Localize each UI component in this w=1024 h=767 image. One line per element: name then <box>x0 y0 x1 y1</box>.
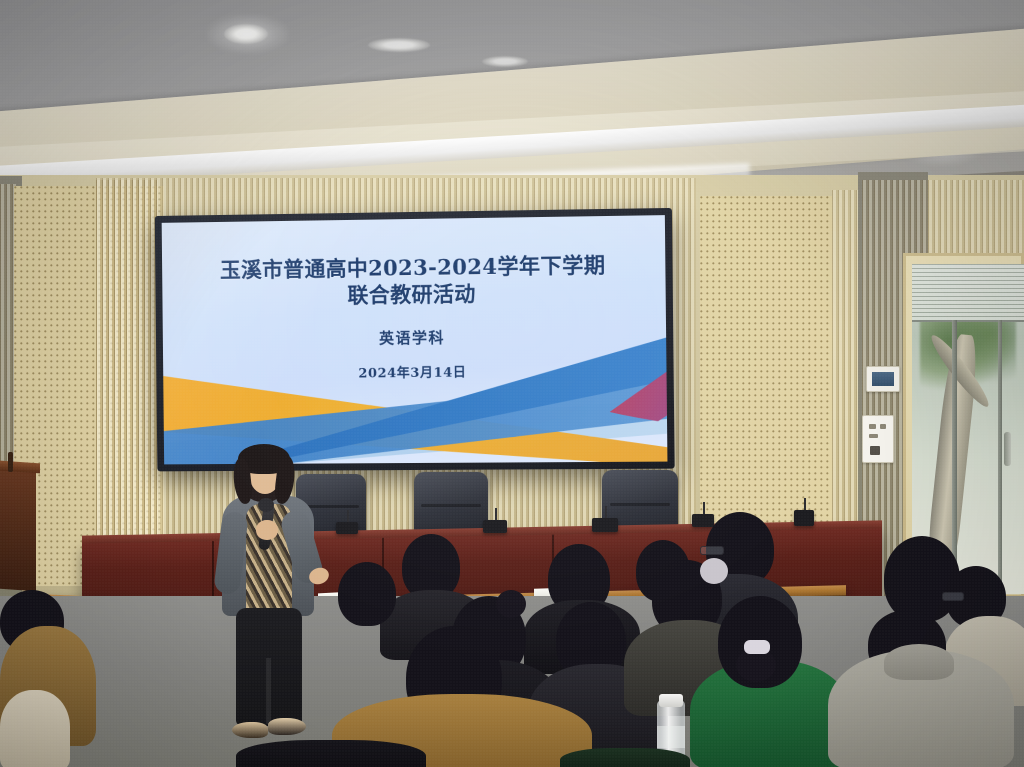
water-bottle-label <box>657 726 685 748</box>
slide-title-line-1: 玉溪市普通高中2023-2024学年下学期 <box>220 252 606 284</box>
thermostat-screen-icon <box>872 372 894 386</box>
transom-blind-icon <box>912 264 1024 320</box>
chair-seat-line <box>610 503 671 506</box>
slide-canvas: 玉溪市普通高中2023-2024学年下学期 联合教研活动 英语学科 2024年3… <box>162 215 668 464</box>
downlight-2 <box>368 38 430 52</box>
presidium-microphone-3 <box>592 518 618 532</box>
microphone-head-icon <box>258 498 274 512</box>
foreground-silhouette-left <box>236 740 426 767</box>
wall-control-plate[interactable] <box>862 415 894 463</box>
podium <box>0 469 36 592</box>
downlight-3 <box>482 56 528 67</box>
door-handle[interactable] <box>1004 432 1011 466</box>
slide-date: 2024年3月14日 <box>358 361 466 381</box>
thermostat-panel[interactable] <box>866 366 900 392</box>
presidium-microphone-4 <box>692 514 714 527</box>
podium-microphone <box>8 452 13 472</box>
slide-text-block: 玉溪市普通高中2023-2024学年下学期 联合教研活动 英语学科 2024年3… <box>162 215 668 464</box>
hair-scrunchie-icon <box>744 640 770 654</box>
presenter <box>206 446 338 767</box>
hair-tie-icon <box>700 558 728 584</box>
audience-hair-bun-1 <box>496 590 526 618</box>
eyeglasses-icon <box>700 546 724 555</box>
door-mullion-right <box>998 320 1002 594</box>
presenter-shoe-right <box>268 718 306 735</box>
switch-icon-1[interactable] <box>869 424 876 429</box>
foreground-silhouette-center <box>560 748 690 767</box>
slide-subject: 英语学科 <box>379 326 445 348</box>
water-bottle-cap <box>659 694 683 707</box>
slide-title-line-2: 联合教研活动 <box>220 279 606 311</box>
audience-head-left-mid <box>338 562 396 626</box>
presidium-microphone-2 <box>483 520 507 533</box>
presenter-leg-gap <box>266 658 271 724</box>
presidium-microphone-5 <box>794 510 814 526</box>
chair-seat-line <box>421 504 480 507</box>
switch-icon-3[interactable] <box>869 434 878 438</box>
presenter-shoe-left <box>232 722 268 738</box>
audience-body-left-front-2 <box>0 690 70 767</box>
switch-icon-2[interactable] <box>880 424 886 429</box>
presentation-display[interactable]: 玉溪市普通高中2023-2024学年下学期 联合教研活动 英语学科 2024年3… <box>155 208 675 471</box>
presenter-hand-holding-mic <box>256 520 278 540</box>
door-transom <box>912 264 1024 322</box>
hoodie-hood <box>884 644 954 680</box>
socket-icon[interactable] <box>870 446 880 455</box>
presidium-chair-2[interactable] <box>414 472 488 534</box>
downlight-1 <box>224 24 268 44</box>
eyeglasses-icon-2 <box>942 592 964 601</box>
conference-room-scene: 玉溪市普通高中2023-2024学年下学期 联合教研活动 英语学科 2024年3… <box>0 0 1024 767</box>
slide-title: 玉溪市普通高中2023-2024学年下学期 联合教研活动 <box>220 252 606 311</box>
presidium-microphone-1 <box>336 522 358 534</box>
